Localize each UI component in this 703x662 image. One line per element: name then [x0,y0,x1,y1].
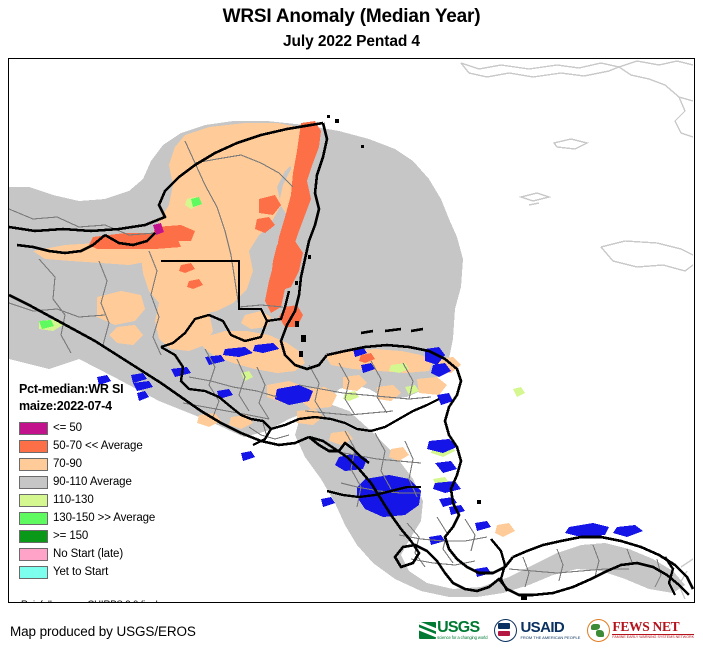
legend-label: >= 150 [53,530,88,543]
map-credit: Map produced by USGS/EROS [10,624,196,639]
usaid-logo-tagline: FROM THE AMERICAN PEOPLE [520,635,580,640]
legend-label: <= 50 [53,422,82,435]
usaid-logo[interactable]: USAID FROM THE AMERICAN PEOPLE [494,617,580,643]
legend-label: 110-130 [53,494,94,507]
usgs-logo[interactable]: USGS science for a changing world [419,617,487,643]
usgs-logo-tagline: science for a changing world [437,635,487,640]
legend-label: Yet to Start [53,566,108,579]
legend-color-swatch [19,494,48,507]
legend-color-swatch [19,530,48,543]
legend-label: 50-70 << Average [53,440,143,453]
footer: Map produced by USGS/EROS USGS science f… [0,607,703,662]
legend-color-swatch [19,422,48,435]
legend-title-line2: maize:2022-07-4 [19,398,229,415]
page-title: WRSI Anomaly (Median Year) [0,5,703,29]
legend-label: No Start (late) [53,548,123,561]
usaid-logo-text: USAID [520,621,580,635]
legend-color-swatch [19,476,48,489]
legend-row: <= 50 [19,419,229,437]
legend-color-swatch [19,548,48,561]
legend-row: >= 150 [19,527,229,545]
usgs-logo-text: USGS [437,620,487,635]
usaid-seal-icon [494,619,517,642]
legend-label: 130-150 >> Average [53,512,155,525]
logo-strip: USGS science for a changing world USAID … [419,617,694,643]
legend-row: No Start (late) [19,545,229,563]
legend-row: 90-110 Average [19,473,229,491]
map-frame[interactable]: Pct-median:WR SI maize:2022-07-4 <= 5050… [8,58,695,603]
legend-color-swatch [19,566,48,579]
rainfall-source-note: Rainfall source: CHIRPS 2.0 final [21,599,158,603]
legend-color-swatch [19,458,48,471]
fews-net-logo[interactable]: FEWS NET FAMINE EARLY WARNING SYSTEMS NE… [587,617,694,643]
legend-rows: <= 5050-70 << Average70-9090-110 Average… [19,419,229,581]
legend-row: Yet to Start [19,563,229,581]
page-subtitle: July 2022 Pentad 4 [0,31,703,53]
legend-color-swatch [19,512,48,525]
legend-row: 110-130 [19,491,229,509]
fews-net-globe-icon [587,619,610,642]
legend-row: 70-90 [19,455,229,473]
legend-title-line1: Pct-median:WR SI [19,381,229,398]
legend-row: 130-150 >> Average [19,509,229,527]
map-legend: Pct-median:WR SI maize:2022-07-4 <= 5050… [19,381,229,581]
fews-net-logo-tagline: FAMINE EARLY WARNING SYSTEMS NETWORK [612,635,694,640]
legend-color-swatch [19,440,48,453]
legend-label: 70-90 [53,458,82,471]
legend-row: 50-70 << Average [19,437,229,455]
title-block: WRSI Anomaly (Median Year) July 2022 Pen… [0,0,703,53]
legend-label: 90-110 Average [53,476,132,489]
usgs-wave-icon [419,622,436,639]
fews-net-logo-text: FEWS NET [612,620,694,633]
